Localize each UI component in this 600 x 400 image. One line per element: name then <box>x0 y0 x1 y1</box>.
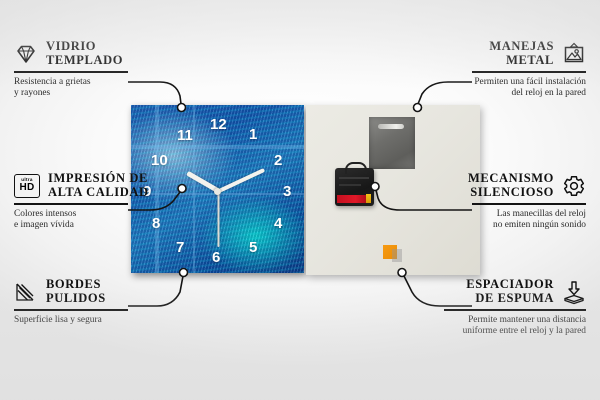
clock-numeral-12: 12 <box>210 117 227 132</box>
callout-vidrio-templado[interactable]: VIDRIO TEMPLADO Resistencia a grietas y … <box>14 40 132 100</box>
callout-manejas-metal[interactable]: MANEJAS METAL Permiten una fácil instala… <box>468 40 586 100</box>
callout-rule <box>472 71 586 73</box>
connector-vidrio-templado <box>128 82 181 104</box>
callout-title: BORDES PULIDOS <box>46 278 106 305</box>
callout-desc-line2: uniforme entre el reloj y la pared <box>440 326 586 338</box>
clock-numeral-6: 6 <box>212 250 220 265</box>
callout-desc-line1: Colores intensos <box>14 209 132 221</box>
callout-header: ESPACIADOR DE ESPUMA <box>440 278 586 305</box>
gear-icon <box>562 174 586 198</box>
ultra-hd-icon-main-text: HD <box>19 183 34 193</box>
clock-numeral-10: 10 <box>151 153 168 168</box>
clock-numeral-1: 1 <box>249 127 257 142</box>
callout-header: ultra HD IMPRESIÓN DE ALTA CALIDAD <box>14 172 132 199</box>
clock-second-hand <box>218 191 220 247</box>
diamond-icon <box>14 42 38 66</box>
clock-numeral-7: 7 <box>176 240 184 255</box>
clock-numeral-8: 8 <box>152 216 160 231</box>
connector-manejas <box>418 82 472 104</box>
callout-mecanismo-silencioso[interactable]: MECANISMO SILENCIOSO Las manecillas del … <box>468 172 586 232</box>
callout-header: MANEJAS METAL <box>468 40 586 67</box>
product-image: 12 1 2 3 4 5 6 7 8 9 10 11 <box>131 105 480 275</box>
metal-hanger-plate <box>369 117 415 169</box>
callout-header: MECANISMO SILENCIOSO <box>468 172 586 199</box>
callout-title: IMPRESIÓN DE ALTA CALIDAD <box>48 172 149 199</box>
callout-desc-line1: Resistencia a grietas <box>14 77 132 89</box>
callout-desc-line1: Las manecillas del reloj <box>468 209 586 221</box>
callout-title: VIDRIO TEMPLADO <box>46 40 123 67</box>
clock-numeral-4: 4 <box>274 216 282 231</box>
ultra-hd-icon: ultra HD <box>14 174 40 198</box>
callout-desc-line1: Permiten una fácil instalación <box>468 77 586 89</box>
callout-rule <box>14 309 128 311</box>
callout-header: BORDES PULIDOS <box>14 278 132 305</box>
callout-desc-line1: Permite mantener una distancia <box>440 315 586 327</box>
callout-rule <box>444 309 586 311</box>
mechanism-detail <box>339 184 361 186</box>
callout-rule <box>14 71 128 73</box>
callout-title: MANEJAS METAL <box>489 40 554 67</box>
clock-numeral-11: 11 <box>177 128 193 143</box>
callout-desc-line2: e imagen vívida <box>14 220 132 232</box>
clock-back-panel <box>306 105 480 275</box>
infographic-canvas: 12 1 2 3 4 5 6 7 8 9 10 11 <box>0 0 600 400</box>
pattern-gridline <box>155 105 159 273</box>
clock-numeral-3: 3 <box>283 184 291 199</box>
callout-title: MECANISMO SILENCIOSO <box>468 172 554 199</box>
callout-desc-line2: no emiten ningún sonido <box>468 220 586 232</box>
callout-desc-line2: del reloj en la pared <box>468 88 586 100</box>
callout-title: ESPACIADOR DE ESPUMA <box>466 278 554 305</box>
mechanism-red-label <box>337 195 368 203</box>
foam-spacer-icon <box>562 280 586 304</box>
callout-espaciador-espuma[interactable]: ESPACIADOR DE ESPUMA Permite mantener un… <box>440 278 586 338</box>
callout-desc-line1: Superficie lisa y segura <box>14 315 132 327</box>
pattern-gridline <box>193 105 195 273</box>
mechanism-detail <box>339 177 369 179</box>
callout-desc-line2: y rayones <box>14 88 132 100</box>
callout-rule <box>14 203 128 205</box>
clock-center-cap <box>214 188 221 195</box>
clock-numeral-2: 2 <box>274 153 282 168</box>
mechanism-yellow-chip <box>366 194 371 203</box>
connector-bordes <box>128 276 183 306</box>
callout-bordes-pulidos[interactable]: BORDES PULIDOS Superficie lisa y segura <box>14 278 132 326</box>
foam-spacer-pad <box>383 245 397 259</box>
clock-front-face: 12 1 2 3 4 5 6 7 8 9 10 11 <box>131 105 304 273</box>
callout-impresion-alta-calidad[interactable]: ultra HD IMPRESIÓN DE ALTA CALIDAD Color… <box>14 172 132 232</box>
mechanism-loop <box>345 162 367 174</box>
picture-frame-icon <box>562 42 586 66</box>
clock-minute-hand <box>218 168 265 193</box>
callout-header: VIDRIO TEMPLADO <box>14 40 132 67</box>
pattern-gridline <box>131 145 304 149</box>
quartz-mechanism <box>335 168 374 206</box>
hanger-slot <box>378 124 404 129</box>
callout-rule <box>472 203 586 205</box>
clock-numeral-5: 5 <box>249 240 257 255</box>
polished-edges-icon <box>14 280 38 304</box>
